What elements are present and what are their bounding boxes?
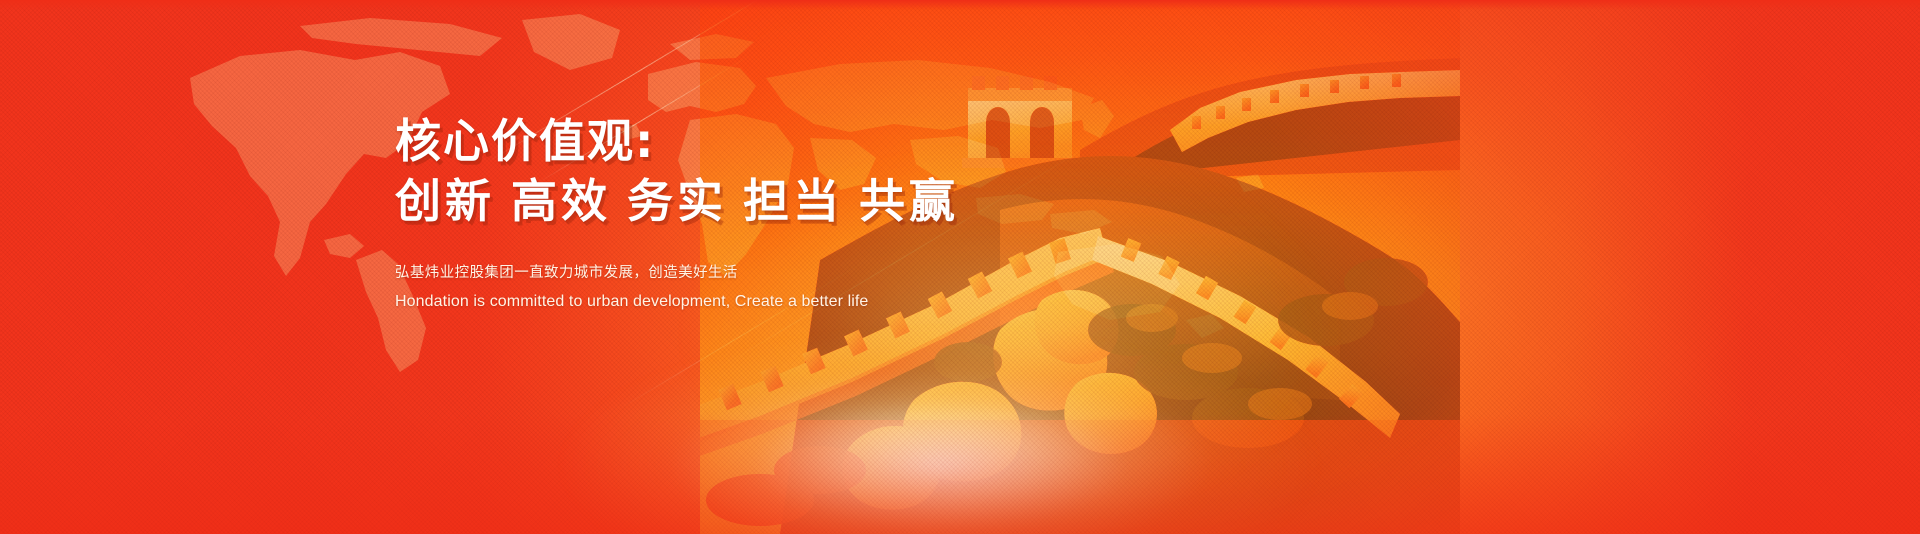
bottom-edge-shade (0, 414, 1920, 534)
top-edge-band (0, 0, 1920, 10)
value-word-4: 担当 (743, 174, 843, 228)
subtitle-block: 弘基炜业控股集团一直致力城市发展，创造美好生活 Hondation is com… (395, 260, 1115, 316)
hero-text-block: 核心价值观: 创新高效务实担当共赢 弘基炜业控股集团一直致力城市发展，创造美好生… (395, 118, 1115, 316)
headline-primary: 核心价值观: (395, 118, 1115, 164)
hero-banner: 核心价值观: 创新高效务实担当共赢 弘基炜业控股集团一直致力城市发展，创造美好生… (0, 0, 1920, 534)
subtitle-chinese: 弘基炜业控股集团一直致力城市发展，创造美好生活 (395, 260, 1115, 288)
value-word-5: 共赢 (859, 174, 959, 228)
subtitle-english: Hondation is committed to urban developm… (395, 288, 1115, 316)
value-word-2: 高效 (511, 174, 611, 228)
value-word-1: 创新 (395, 174, 495, 228)
value-word-3: 务实 (627, 174, 727, 228)
headline-values: 创新高效务实担当共赢 (395, 178, 1115, 224)
